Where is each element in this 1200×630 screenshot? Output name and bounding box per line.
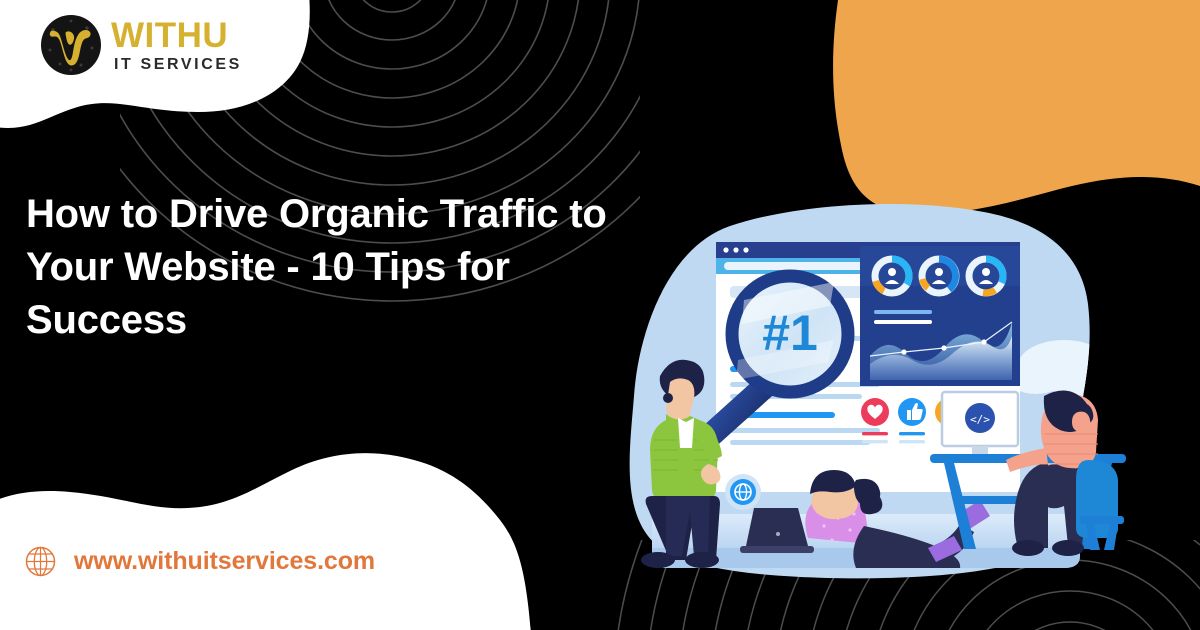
shoe (1012, 540, 1044, 556)
shoe (685, 552, 719, 568)
poster-canvas: WITHU IT SERVICES How to Drive Organic T… (0, 0, 1200, 630)
shoe (641, 552, 675, 568)
shoe (1052, 540, 1084, 556)
brand-name: WITHU (111, 19, 242, 53)
brand-logo[interactable]: WITHU IT SERVICES (0, 0, 310, 114)
analytics-dashboard-panel (860, 246, 1020, 386)
globe-icon (24, 545, 57, 578)
page-title: How to Drive Organic Traffic to Your Web… (26, 188, 648, 348)
seo-ranking-illustration: </> #1 (612, 196, 1187, 596)
magnifier-rank-label: #1 (762, 305, 818, 361)
withu-w-monogram-icon (40, 14, 102, 76)
website-url-text[interactable]: www.withuitservices.com (74, 547, 375, 576)
website-url-row[interactable]: www.withuitservices.com (24, 545, 375, 578)
browser-dot (723, 247, 728, 252)
monitor-code-label: </> (970, 413, 990, 426)
white-bottom-blob-shape (0, 453, 534, 630)
globe-icon-badge (725, 474, 761, 510)
browser-dot (743, 247, 748, 252)
browser-dot (733, 247, 738, 252)
brand-tagline: IT SERVICES (111, 57, 242, 73)
